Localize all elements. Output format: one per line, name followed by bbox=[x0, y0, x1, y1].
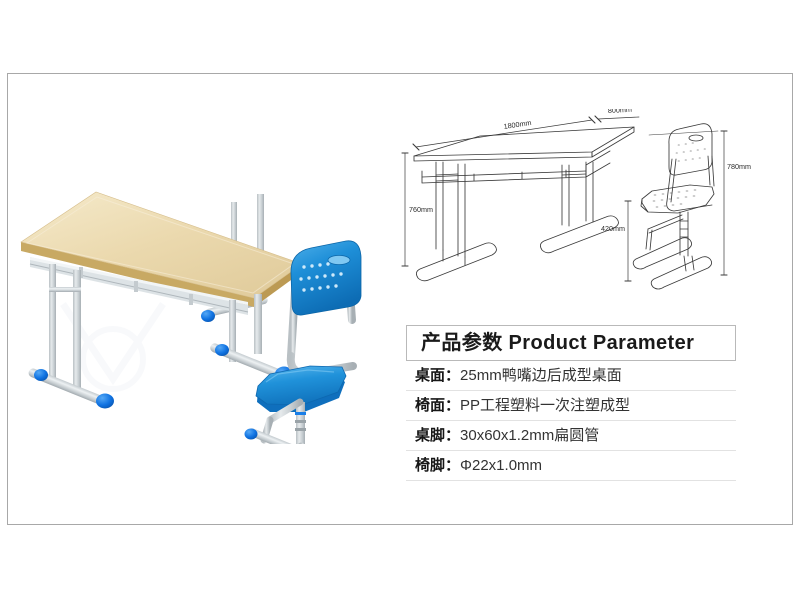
chair-line-drawing bbox=[633, 124, 714, 289]
label-chair-seat-height: 420mm bbox=[601, 224, 625, 233]
label-chair-height: 780mm bbox=[727, 162, 751, 171]
product-photo-svg bbox=[8, 124, 398, 444]
spec-key: 椅脚 bbox=[415, 457, 445, 474]
spec-value: 25mm鸭嘴边后成型桌面 bbox=[460, 367, 622, 384]
spec-row: 椅面：PP工程塑料一次注塑成型 bbox=[406, 391, 736, 421]
spec-key: 桌脚 bbox=[415, 427, 445, 444]
spec-value: Φ22x1.0mm bbox=[460, 457, 542, 474]
spec-value: PP工程塑料一次注塑成型 bbox=[460, 397, 630, 414]
spec-separator: ： bbox=[445, 367, 460, 384]
label-desk-depth: 800mm bbox=[608, 109, 632, 115]
spec-row: 桌脚：30x60x1.2mm扁圆管 bbox=[406, 421, 736, 451]
product-photo bbox=[8, 124, 398, 444]
label-desk-length: 1800mm bbox=[503, 118, 532, 131]
spec-key: 桌面 bbox=[415, 367, 445, 384]
technical-drawings-svg: 1800mm 800mm 760mm 780mm 420mm bbox=[396, 109, 796, 314]
desk-line-drawing bbox=[414, 127, 634, 281]
spec-title: 产品参数 Product Parameter bbox=[406, 325, 736, 361]
spec-value: 30x60x1.2mm扁圆管 bbox=[460, 427, 599, 444]
spec-separator: ： bbox=[445, 397, 460, 414]
desk-illustration bbox=[21, 192, 302, 409]
chair-backrest bbox=[291, 241, 361, 315]
dim-desk-height bbox=[402, 153, 408, 266]
product-parameter-block: 产品参数 Product Parameter 桌面：25mm鸭嘴边后成型桌面 椅… bbox=[406, 325, 736, 481]
dim-chair-seat-height bbox=[625, 201, 631, 281]
label-desk-height: 760mm bbox=[409, 205, 433, 214]
spec-separator: ： bbox=[445, 427, 460, 444]
dim-desk-depth bbox=[595, 116, 639, 122]
spec-separator: ： bbox=[445, 457, 460, 474]
spec-row: 椅脚：Φ22x1.0mm bbox=[406, 451, 736, 481]
spec-key: 椅面 bbox=[415, 397, 445, 414]
spec-row: 桌面：25mm鸭嘴边后成型桌面 bbox=[406, 361, 736, 391]
technical-drawings: 1800mm 800mm 760mm 780mm 420mm bbox=[396, 109, 796, 309]
